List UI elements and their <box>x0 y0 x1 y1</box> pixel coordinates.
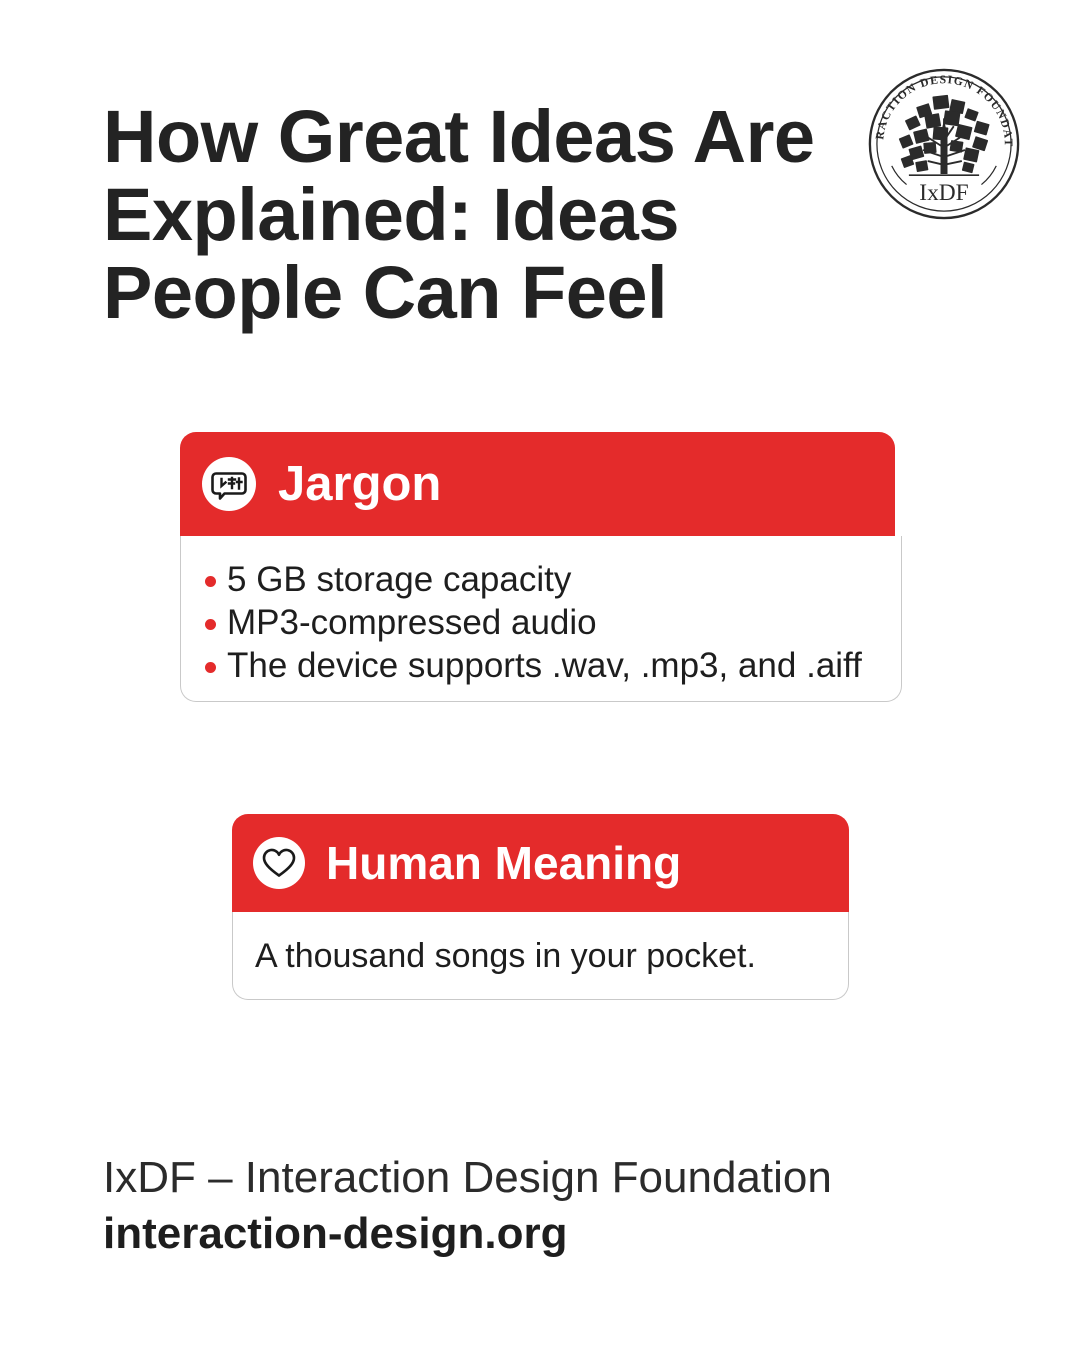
human-meaning-card-header: Human Meaning <box>232 814 849 912</box>
jargon-card-title: Jargon <box>278 460 441 509</box>
human-meaning-card-title: Human Meaning <box>326 840 681 886</box>
human-meaning-card: Human Meaning A thousand songs in your p… <box>232 814 849 1000</box>
page-title: How Great Ideas Are Explained: Ideas Peo… <box>103 98 833 332</box>
svg-text:IxDF: IxDF <box>919 180 968 206</box>
footer: IxDF – Interaction Design Foundation int… <box>103 1150 983 1262</box>
poster-canvas: How Great Ideas Are Explained: Ideas Peo… <box>0 0 1080 1350</box>
human-meaning-card-body: A thousand songs in your pocket. <box>232 912 849 1000</box>
ixdf-seal-logo: INTERACTION DESIGN FOUNDATION <box>866 66 1022 222</box>
list-item: The device supports .wav, .mp3, and .aif… <box>197 644 901 687</box>
footer-organization: IxDF – Interaction Design Foundation <box>103 1150 983 1206</box>
jargon-card-header: Jargon <box>180 432 895 536</box>
heart-outline-icon <box>253 837 305 889</box>
jargon-speech-bubble-icon <box>202 457 256 511</box>
list-item: MP3-compressed audio <box>197 601 901 644</box>
human-meaning-text: A thousand songs in your pocket. <box>255 936 756 976</box>
footer-url[interactable]: interaction-design.org <box>103 1206 983 1262</box>
jargon-card-body: 5 GB storage capacity MP3-compressed aud… <box>180 536 902 702</box>
jargon-bullet-list: 5 GB storage capacity MP3-compressed aud… <box>197 558 901 687</box>
list-item: 5 GB storage capacity <box>197 558 901 601</box>
jargon-card: Jargon 5 GB storage capacity MP3-compres… <box>180 432 902 702</box>
